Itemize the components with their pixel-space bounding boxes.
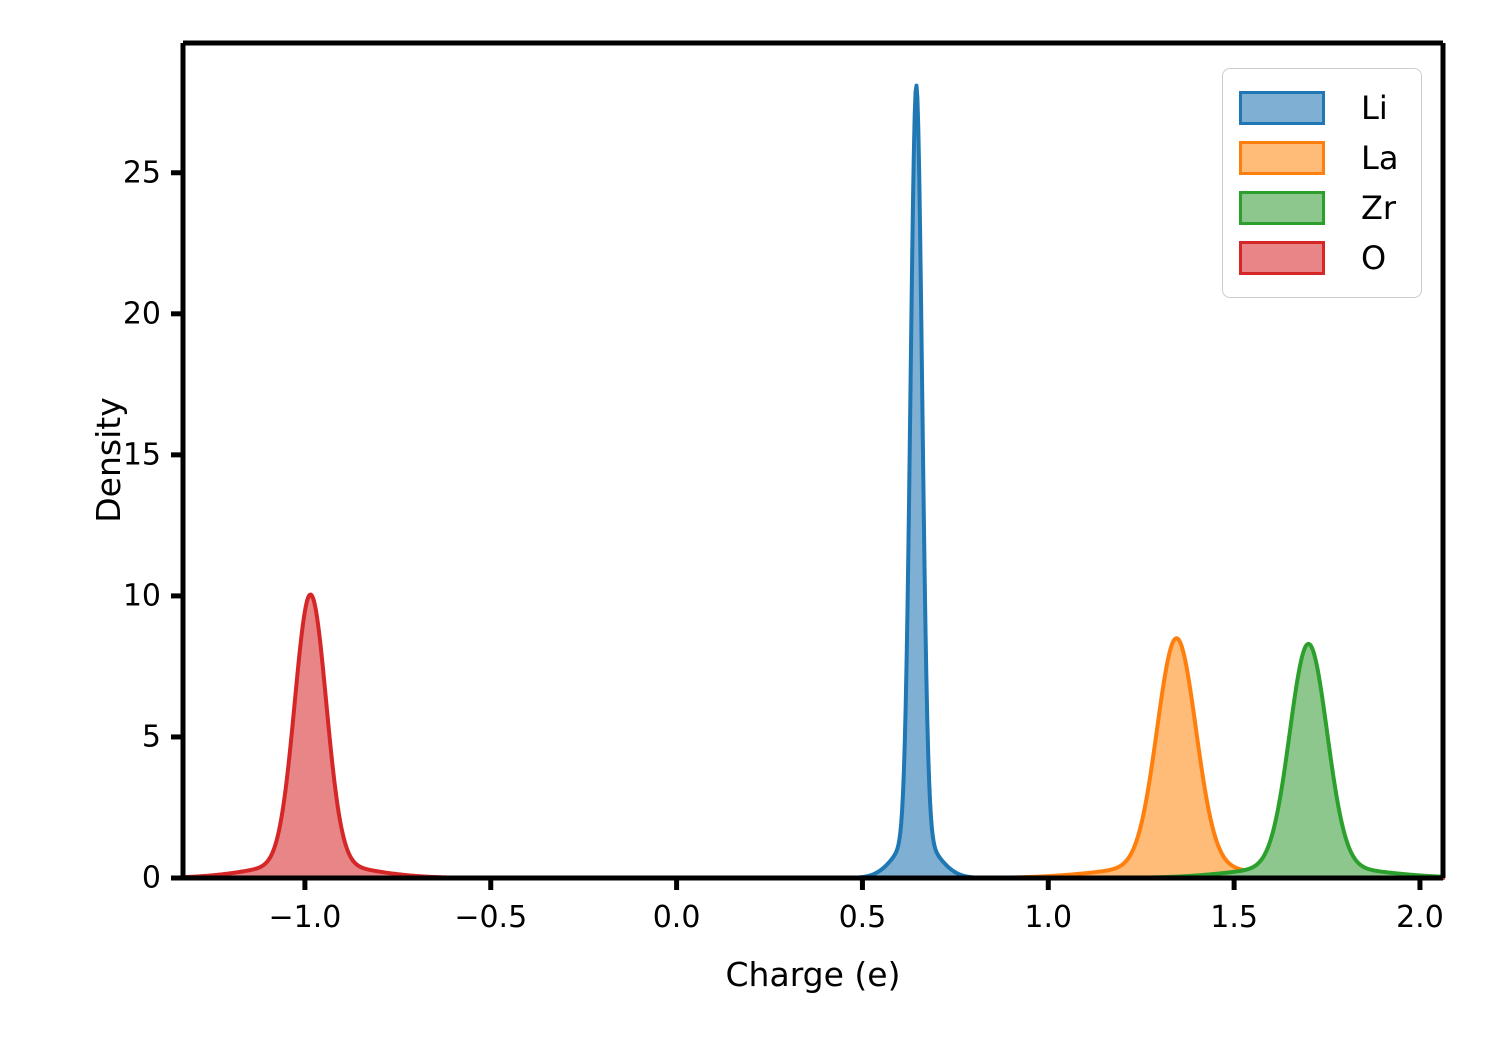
x-tick-label: −1.0 [268, 900, 341, 935]
x-tick-label: 1.0 [1024, 900, 1072, 935]
density-outline-zr [183, 644, 1443, 878]
density-series-zr [183, 644, 1443, 878]
density-series-la [183, 638, 1443, 878]
y-tick-label: 10 [123, 578, 161, 613]
density-outline-la [183, 638, 1443, 878]
x-tick-label: 1.5 [1210, 900, 1258, 935]
y-tick-label: 20 [123, 296, 161, 331]
y-tick-label: 0 [142, 861, 161, 896]
legend-swatch-o [1239, 241, 1325, 275]
legend-swatch-zr [1239, 191, 1325, 225]
legend-item-o[interactable]: O [1239, 233, 1405, 283]
y-tick-label: 15 [123, 437, 161, 472]
legend-swatch-li [1239, 91, 1325, 125]
density-outline-o [183, 595, 1443, 878]
legend-label-li: Li [1361, 92, 1388, 124]
legend-item-li[interactable]: Li [1239, 83, 1405, 133]
y-tick-label: 5 [142, 719, 161, 754]
legend-item-zr[interactable]: Zr [1239, 183, 1405, 233]
density-fill-la [183, 638, 1443, 878]
density-series-o [183, 595, 1443, 878]
legend-item-la[interactable]: La [1239, 133, 1405, 183]
x-tick-label: 0.5 [839, 900, 887, 935]
legend-label-zr: Zr [1361, 192, 1396, 224]
x-tick-label: 2.0 [1396, 900, 1444, 935]
y-tick-label: 25 [123, 155, 161, 190]
legend-label-la: La [1361, 142, 1398, 174]
density-fill-zr [183, 644, 1443, 878]
legend-swatch-la [1239, 141, 1325, 175]
y-axis-label: Density [89, 397, 128, 522]
legend-box: LiLaZrO [1222, 68, 1422, 298]
density-fill-o [183, 595, 1443, 878]
x-axis-label: Charge (e) [726, 955, 901, 994]
figure-canvas: −1.0−0.50.00.51.01.52.0 0510152025 Charg… [0, 0, 1500, 1050]
legend-label-o: O [1361, 242, 1386, 274]
x-tick-label: −0.5 [454, 900, 527, 935]
x-tick-label: 0.0 [653, 900, 701, 935]
